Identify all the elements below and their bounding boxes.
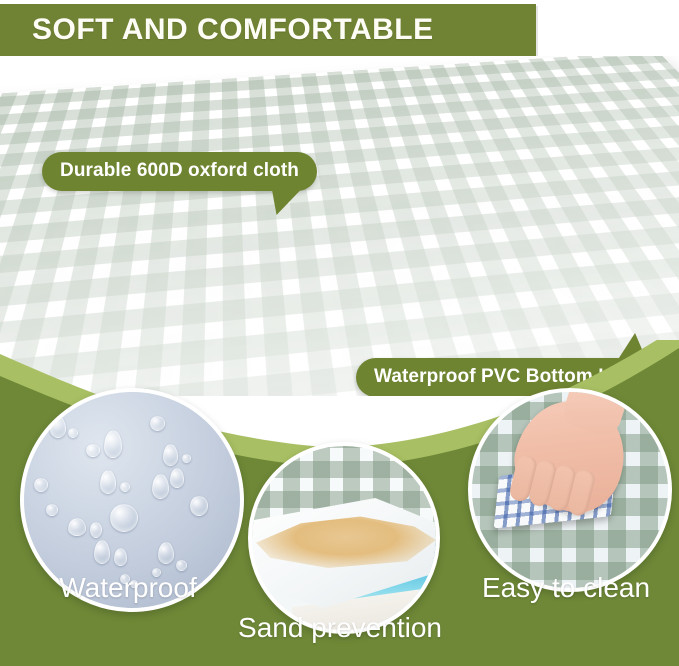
water-droplet-icon xyxy=(170,468,184,488)
water-droplet-icon xyxy=(68,428,78,438)
water-droplet-icon xyxy=(94,540,110,564)
water-droplet-icon xyxy=(150,416,165,431)
feature-label-waterproof: Waterproof xyxy=(12,572,244,604)
feature-image-easy-to-clean xyxy=(468,388,672,592)
water-droplet-icon xyxy=(34,478,48,492)
water-droplet-icon xyxy=(46,504,58,516)
feature-label-easy-to-clean: Easy to clean xyxy=(452,572,679,604)
water-droplet-icon xyxy=(110,504,138,532)
callout-tail-icon xyxy=(267,187,304,215)
callout-oxford-label: Durable 600D oxford cloth xyxy=(60,160,299,181)
header-banner: SOFT AND COMFORTABLE xyxy=(0,4,536,56)
water-droplet-icon xyxy=(104,430,122,458)
water-droplet-icon xyxy=(90,522,102,538)
water-droplet-icon xyxy=(190,496,208,516)
product-infographic: SOFT AND COMFORTABLE Durable 600D oxford… xyxy=(0,0,679,666)
water-droplet-icon xyxy=(114,548,127,566)
water-droplet-icon xyxy=(68,518,86,536)
feature-label-sand-prevention: Sand prevention xyxy=(206,612,474,644)
water-droplet-icon xyxy=(120,482,130,492)
water-droplet-icon xyxy=(182,454,191,463)
water-droplet-icon xyxy=(163,444,178,466)
water-droplet-icon xyxy=(152,474,169,499)
callout-oxford-cloth: Durable 600D oxford cloth xyxy=(42,152,317,191)
water-droplet-icon xyxy=(176,560,187,571)
feature-image-sand-prevention xyxy=(248,442,440,634)
water-droplet-icon xyxy=(50,416,66,438)
water-droplet-icon xyxy=(100,470,116,494)
banner-title: SOFT AND COMFORTABLE xyxy=(0,13,434,47)
water-droplet-icon xyxy=(158,542,174,564)
water-droplet-icon xyxy=(86,444,100,457)
